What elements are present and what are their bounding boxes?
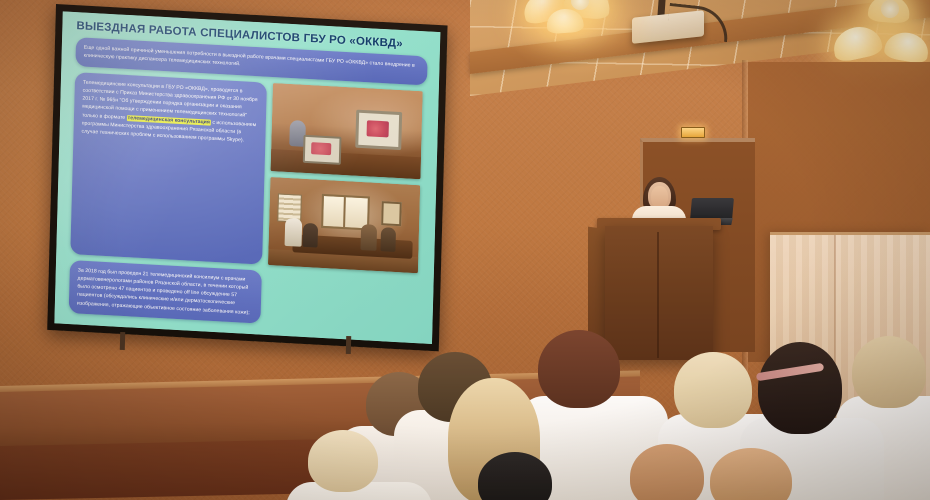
photo-wall-picture xyxy=(381,201,402,226)
presentation-photo-scene: ВЫЕЗДНАЯ РАБОТА СПЕЦИАЛИСТОВ ГБУ РО «ОКК… xyxy=(0,0,930,500)
photo-attendee xyxy=(285,217,303,246)
screen-bracket xyxy=(346,336,351,354)
audience-member xyxy=(700,448,830,500)
exit-sign-icon xyxy=(681,127,705,138)
chandelier-bulb xyxy=(881,0,899,18)
telemed-text-before: Телемедицинские консультации в ГБУ РО «О… xyxy=(82,79,258,120)
audience-member xyxy=(300,430,420,500)
audience-head xyxy=(758,342,842,434)
presenter-face xyxy=(651,186,668,208)
screen-bracket xyxy=(120,332,125,350)
chandelier-shade xyxy=(883,29,930,65)
slide-photo-column xyxy=(268,83,423,273)
audience-head xyxy=(710,448,792,500)
presentation-slide: ВЫЕЗДНАЯ РАБОТА СПЕЦИАЛИСТОВ ГБУ РО «ОКК… xyxy=(54,11,440,344)
photo-attendee xyxy=(380,227,396,252)
audience-head xyxy=(674,352,752,428)
photo-wall-monitor xyxy=(355,109,402,150)
photo-window xyxy=(321,193,370,230)
laptop-screen xyxy=(690,198,734,220)
audience-member xyxy=(470,452,590,500)
projection-screen: ВЫЕЗДНАЯ РАБОТА СПЕЦИАЛИСТОВ ГБУ РО «ОКК… xyxy=(47,4,447,351)
screen-frame: ВЫЕЗДНАЯ РАБОТА СПЕЦИАЛИСТОВ ГБУ РО «ОКК… xyxy=(47,4,447,351)
podium-seam xyxy=(657,232,659,358)
audience-head xyxy=(630,444,704,500)
slide-statistics-textbox: За 2018 год был проведен 21 телемедицинс… xyxy=(69,260,262,324)
screen-surface: ВЫЕЗДНАЯ РАБОТА СПЕЦИАЛИСТОВ ГБУ РО «ОКК… xyxy=(54,11,440,344)
photo-desk xyxy=(271,148,421,178)
photo-attendee xyxy=(303,222,319,247)
chandelier-shade xyxy=(830,23,884,64)
audience-head xyxy=(308,430,378,492)
slide-middle-row: Телемедицинские консультации в ГБУ РО «О… xyxy=(70,72,431,274)
photo-desk-monitor xyxy=(303,134,342,164)
chandelier-left xyxy=(520,0,640,56)
slide-photo-consilium xyxy=(268,176,420,272)
photo-attendee xyxy=(360,224,377,251)
audience-head xyxy=(478,452,552,500)
slide-photo-telemedicine-room xyxy=(271,83,423,179)
slide-telemedicine-textbox: Телемедицинские консультации в ГБУ РО «О… xyxy=(70,72,267,264)
